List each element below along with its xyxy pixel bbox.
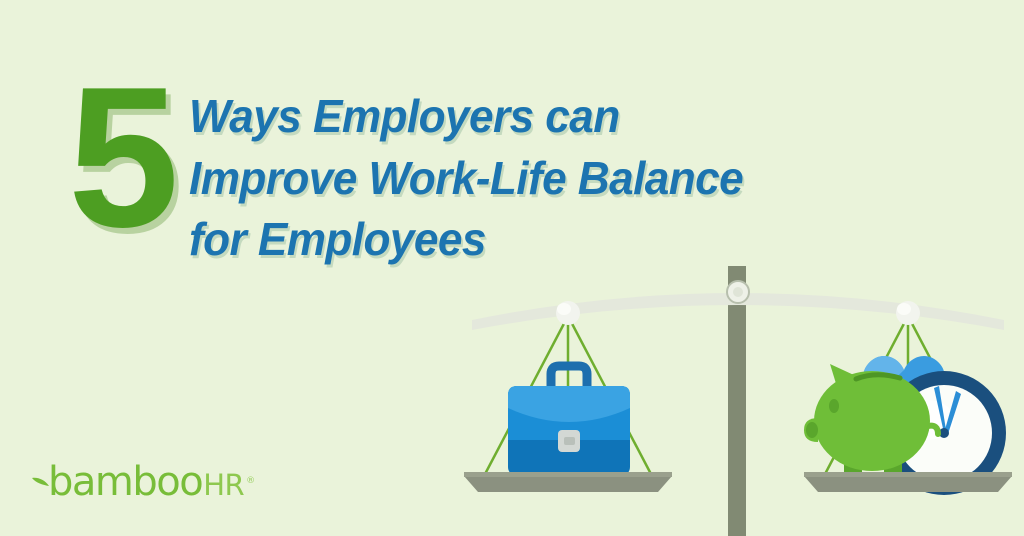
balance-scale-illustration [452,258,1024,536]
headline-lines: Ways Employers can Improve Work-Life Bal… [189,86,766,271]
logo-text-bamboo: bamboo [48,462,202,502]
bamboohr-logo[interactable]: bamboo HR ® [30,462,255,502]
banner-canvas: 5 Ways Employers can Improve Work-Life B… [0,0,1024,536]
headline-block: 5 Ways Employers can Improve Work-Life B… [68,62,766,271]
bamboo-leaf-icon [30,472,52,502]
logo-trademark: ® [246,477,255,486]
right-pan [804,476,1012,492]
headline-number: 5 [68,62,175,254]
headline-line-1: Ways Employers can [189,86,743,148]
scale-post [728,266,746,536]
logo-text-hr: HR [203,471,244,500]
headline-line-2: Improve Work-Life Balance [189,148,743,210]
left-pan [464,476,672,492]
